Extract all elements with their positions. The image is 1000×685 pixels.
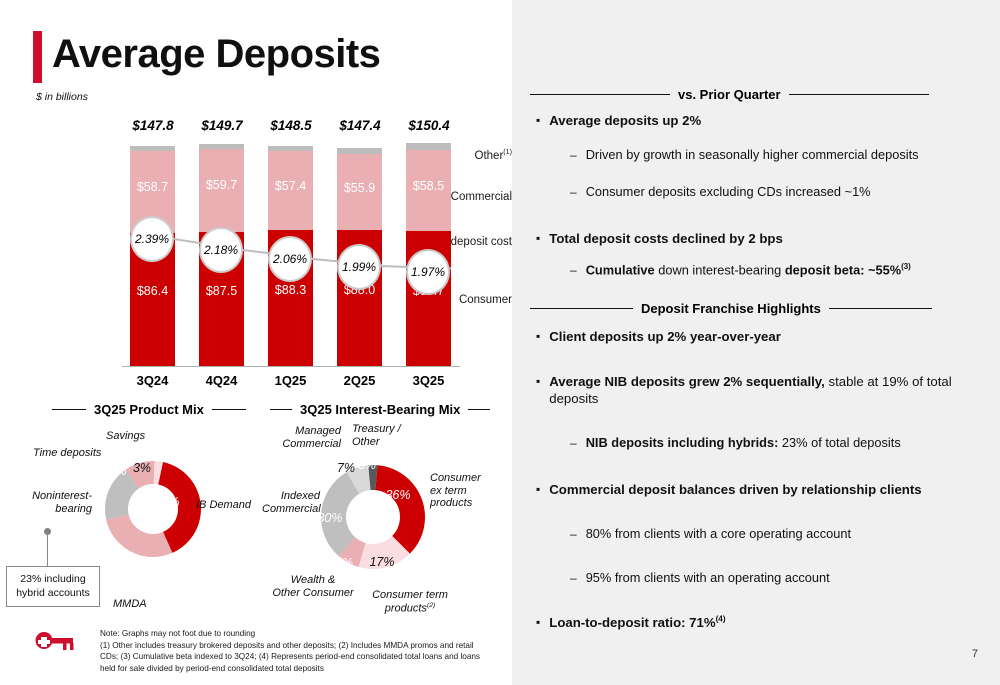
bullet-text: Average NIB deposits grew 2% sequentiall… [549,373,991,408]
average-deposits-bar-chart: $147.8 $149.7 $148.5 $147.4 $150.4 Other… [0,118,512,388]
rule-right [829,308,932,310]
x-tick-1q25: 1Q25 [268,373,313,388]
label-consumer-term: Consumer term products(2) [363,589,457,615]
subbullet-consumer-deposits-ex-cds: – Consumer deposits excluding CDs increa… [570,184,985,201]
bullet-marker: ▪ [536,112,540,129]
bar-total-3q24: $147.8 [121,118,185,133]
bar-value-commercial: $58.5 [406,179,451,193]
bullet-text: Loan-to-deposit ratio: 71%(4) [549,614,725,631]
rule-left [530,94,670,96]
subbullet-core-operating-account: – 80% from clients with a core operating… [570,526,990,543]
deposit-franchise-heading-text: Deposit Franchise Highlights [641,301,821,316]
callout-connector-line [47,535,48,566]
rule-right [468,409,490,411]
deposit-cost-bubble-4q24: 2.18% [199,227,243,273]
x-tick-2q25: 2Q25 [337,373,382,388]
label-indexed-commercial: Indexed Commercial [262,490,320,515]
subbullet-text: NIB deposits including hybrids: 23% of t… [586,435,901,452]
units-label: $ in billions [36,91,88,103]
label-wealth-other-consumer: Wealth & Other Consumer [268,574,358,599]
footnote-line-3: held for sale divided by period-end cons… [100,663,500,675]
pct-consumer-term: 17% [367,555,397,569]
bar-segment-other [406,143,451,150]
subbullet-operating-account: – 95% from clients with an operating acc… [570,570,990,587]
bar-value-consumer: $86.4 [130,284,175,298]
pct-mmda: 28% [108,555,138,569]
subbullet-text: Cumulative down interest-bearing deposit… [586,262,911,279]
bar-value-commercial: $59.7 [199,178,244,192]
bar-value-commercial: $57.4 [268,179,313,193]
x-tick-4q24: 4Q24 [199,373,244,388]
vs-prior-quarter-heading-text: vs. Prior Quarter [678,87,781,102]
bullet-avg-deposits-up: ▪ Average deposits up 2% [536,112,976,129]
deposit-cost-bubble-3q25: 1.97% [406,249,450,295]
key-logo-icon [32,629,78,655]
bullet-marker: ▪ [536,230,540,247]
right-panel: vs. Prior Quarter ▪ Average deposits up … [512,0,1000,685]
bar-total-4q24: $149.7 [190,118,254,133]
pct-consumer-ex-term: 36% [383,488,413,502]
bullet-marker: ▪ [536,328,540,345]
page-title: Average Deposits [52,32,380,77]
label-ib-demand: IB Demand [196,499,251,512]
label-managed-commercial: Managed Commercial [273,425,341,450]
x-tick-3q24: 3Q24 [130,373,175,388]
dash-marker: – [570,526,577,543]
label-mmda: MMDA [113,598,147,611]
x-tick-3q25: 3Q25 [406,373,451,388]
dash-marker: – [570,435,577,452]
bar-value-consumer: $88.3 [268,283,313,297]
dash-marker: – [570,262,577,279]
rule-left [52,409,86,411]
title-accent-bar [33,31,42,83]
bar-segment-commercial: $57.4 [268,151,313,230]
left-panel: Average Deposits $ in billions $147.8 $1… [0,0,512,685]
vs-prior-quarter-heading: vs. Prior Quarter [530,87,929,102]
product-mix-heading-text: 3Q25 Product Mix [94,402,204,417]
page-number: 7 [972,648,978,660]
deposit-cost-bubble-1q25: 2.06% [268,236,312,282]
bar-total-2q25: $147.4 [328,118,392,133]
rule-right [789,94,929,96]
subbullet-driven-by-growth: – Driven by growth in seasonally higher … [570,147,985,164]
bullet-text: Client deposits up 2% year-over-year [549,328,781,345]
footnote-line-2: CDs; (3) Cumulative beta indexed to 3Q24… [100,651,500,663]
bar-segment-commercial: $55.9 [337,154,382,230]
subbullet-nib-including-hybrids: – NIB deposits including hybrids: 23% of… [570,435,990,452]
bar-value-commercial: $55.9 [337,181,382,195]
subbullet-text: Consumer deposits excluding CDs increase… [586,184,871,201]
pct-ib-demand: 40% [152,495,182,509]
bullet-total-deposit-costs: ▪ Total deposit costs declined by 2 bps [536,230,976,247]
x-axis-line [122,366,460,367]
bar-value-commercial: $58.7 [130,180,175,194]
bullet-loan-to-deposit-ratio: ▪ Loan-to-deposit ratio: 71%(4) [536,614,976,631]
callout-anchor-dot [44,528,51,535]
bullet-text: Average deposits up 2% [549,112,701,129]
deposit-franchise-highlights-heading: Deposit Franchise Highlights [530,301,932,316]
bullet-commercial-relationship-clients: ▪ Commercial deposit balances driven by … [536,481,996,498]
pct-time-deposits: 10% [99,464,129,478]
footnote-line-1: (1) Other includes treasury brokered dep… [100,640,500,652]
dash-marker: – [570,147,577,164]
bullet-marker: ▪ [536,373,540,408]
bar-segment-commercial: $58.5 [406,150,451,231]
rule-left [270,409,292,411]
bullet-marker: ▪ [536,481,540,498]
subbullet-text: Driven by growth in seasonally higher co… [586,147,919,164]
label-noninterest-bearing: Noninterest- bearing [20,490,92,515]
bullet-avg-nib-deposits: ▪ Average NIB deposits grew 2% sequentia… [536,373,991,408]
subbullet-cumulative-beta: – Cumulative down interest-bearing depos… [570,262,990,279]
bullet-client-deposits-yoy: ▪ Client deposits up 2% year-over-year [536,328,976,345]
product-mix-heading: 3Q25 Product Mix [52,402,246,417]
slide-root: Average Deposits $ in billions $147.8 $1… [0,0,1000,685]
label-consumer-ex-term: Consumer ex term products [430,472,481,510]
subbullet-text: 95% from clients with an operating accou… [586,570,830,587]
label-savings: Savings [106,430,145,443]
subbullet-text: 80% from clients with a core operating a… [586,526,851,543]
bar-segment-commercial: $59.7 [199,149,244,232]
bar-total-1q25: $148.5 [259,118,323,133]
deposit-cost-bubble-2q25: 1.99% [337,244,381,290]
pct-wealth-other-consumer: 7% [331,556,357,570]
ib-mix-heading-text: 3Q25 Interest-Bearing Mix [300,402,460,417]
hybrid-accounts-callout: 23% including hybrid accounts [6,566,100,607]
footnote-note: Note: Graphs may not foot due to roundin… [100,628,500,640]
dash-marker: – [570,570,577,587]
pct-treasury-other: 3% [354,458,380,472]
bar-value-consumer: $87.5 [199,284,244,298]
pct-savings: 3% [129,461,155,475]
label-time-deposits: Time deposits [33,447,101,460]
bullet-marker: ▪ [536,614,540,631]
bullet-text: Commercial deposit balances driven by re… [549,481,921,498]
bullet-text: Total deposit costs declined by 2 bps [549,230,783,247]
deposit-cost-bubble-3q24: 2.39% [130,216,174,262]
bar-total-3q25: $150.4 [397,118,461,133]
footnotes: Note: Graphs may not foot due to roundin… [100,628,500,675]
rule-right [212,409,246,411]
dash-marker: – [570,184,577,201]
ib-mix-heading: 3Q25 Interest-Bearing Mix [270,402,490,417]
rule-left [530,308,633,310]
label-treasury-other: Treasury / Other [352,423,401,448]
